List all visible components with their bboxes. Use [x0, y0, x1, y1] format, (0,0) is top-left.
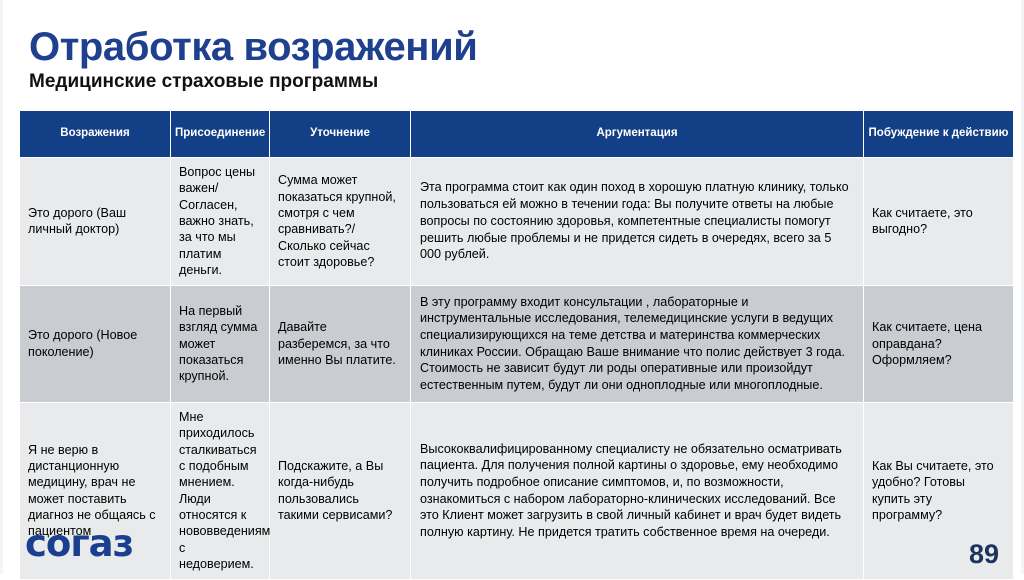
- cell-joining: Мне приходилось сталкиваться с подобным …: [171, 403, 269, 579]
- table-row: Я не верю в дистанционную медицину, врач…: [20, 403, 1013, 579]
- sogaz-logo: согаз: [25, 526, 133, 560]
- column-header-clarification: Уточнение: [270, 111, 410, 157]
- column-header-argumentation: Аргументация: [411, 111, 863, 157]
- page-subtitle: Медицинские страховые программы: [29, 72, 989, 93]
- cell-clarification: Сумма может показаться крупной, смотря с…: [270, 158, 410, 285]
- table-header-row: Возражения Присоединение Уточнение Аргум…: [20, 111, 1013, 157]
- cell-call-to-action: Как считаете, цена оправдана? Оформляем?: [864, 286, 1013, 402]
- cell-objection: Это дорого (Новое поколение): [20, 286, 170, 402]
- cell-clarification: Подскажите, а Вы когда-нибудь пользовали…: [270, 403, 410, 579]
- objections-table: Возражения Присоединение Уточнение Аргум…: [19, 110, 1014, 580]
- page-title: Отработка возражений: [29, 26, 989, 68]
- cell-objection: Это дорого (Ваш личный доктор): [20, 158, 170, 285]
- column-header-call-to-action: Побуждение к действию: [864, 111, 1013, 157]
- cell-clarification: Давайте разберемся, за что именно Вы пла…: [270, 286, 410, 402]
- cell-call-to-action: Как считаете, это выгодно?: [864, 158, 1013, 285]
- logo-text: согаз: [25, 525, 133, 562]
- cell-argumentation: Высококвалифицированному специалисту не …: [411, 403, 863, 579]
- cell-joining: Вопрос цены важен/Согласен, важно знать,…: [171, 158, 269, 285]
- column-header-joining: Присоединение: [171, 111, 269, 157]
- column-header-objections: Возражения: [20, 111, 170, 157]
- slide-root: Отработка возражений Медицинские страхов…: [0, 0, 1024, 574]
- table-row: Это дорого (Ваш личный доктор) Вопрос це…: [20, 158, 1013, 285]
- title-area: Отработка возражений Медицинские страхов…: [29, 26, 989, 93]
- page-number: 89: [969, 541, 999, 568]
- table-row: Это дорого (Новое поколение) На первый в…: [20, 286, 1013, 402]
- cell-argumentation: В эту программу входит консультации , ла…: [411, 286, 863, 402]
- cell-argumentation: Эта программа стоит как один поход в хор…: [411, 158, 863, 285]
- cell-joining: На первый взгляд сумма может показаться …: [171, 286, 269, 402]
